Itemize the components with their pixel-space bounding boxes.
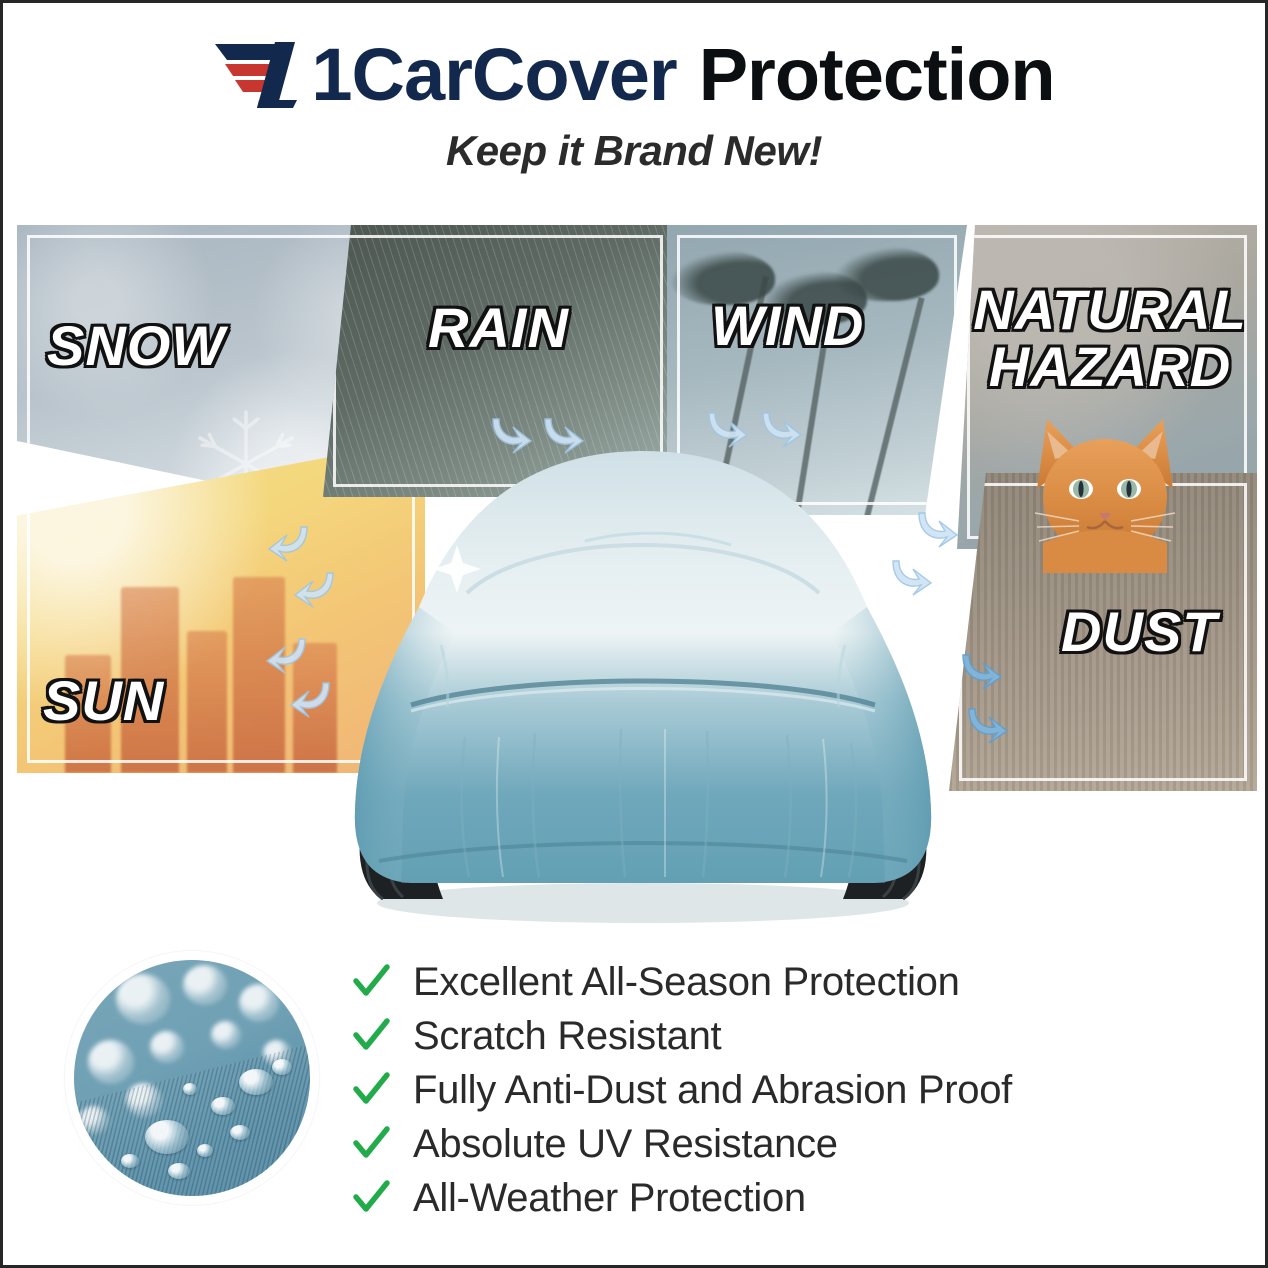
panel-label-natural-hazard: NATURAL HAZARD — [963, 281, 1257, 395]
panel-label-dust: DUST — [1061, 603, 1217, 660]
deflection-arrow-icon — [957, 649, 1003, 695]
list-item: Fully Anti-Dust and Abrasion Proof — [351, 1063, 1181, 1117]
list-item: All-Weather Protection — [351, 1171, 1181, 1225]
panel-label-wind: WIND — [711, 297, 864, 354]
header: 1CarCover Protection Keep it Brand New! — [3, 27, 1265, 175]
deflection-arrow-icon — [487, 413, 533, 459]
tagline: Keep it Brand New! — [3, 127, 1265, 175]
water-beading-fabric-icon — [65, 951, 319, 1205]
deflection-arrow-icon — [963, 703, 1009, 749]
check-icon — [351, 1016, 391, 1056]
deflection-arrow-icon — [289, 677, 335, 723]
palm-tree-icon — [835, 247, 939, 301]
winged-one-logo-icon — [213, 38, 309, 112]
check-icon — [351, 1124, 391, 1164]
deflection-arrow-icon — [293, 567, 339, 613]
list-item: Absolute UV Resistance — [351, 1117, 1181, 1171]
check-icon — [351, 1070, 391, 1110]
feature-label: All-Weather Protection — [413, 1178, 806, 1218]
brand-lockup: 1CarCover Protection — [3, 27, 1265, 123]
covered-car-icon — [335, 437, 951, 929]
panel-label-snow: SNOW — [47, 317, 225, 374]
check-icon — [351, 1178, 391, 1218]
deflection-arrow-icon — [913, 507, 959, 553]
list-item: Excellent All-Season Protection — [351, 955, 1181, 1009]
deflection-arrow-icon — [703, 407, 749, 453]
deflection-arrow-icon — [757, 407, 803, 453]
city-skyline-icon — [187, 631, 227, 773]
deflection-arrow-icon — [267, 521, 313, 567]
feature-list: Excellent All-Season Protection Scratch … — [351, 955, 1181, 1225]
feature-label: Fully Anti-Dust and Abrasion Proof — [413, 1070, 1012, 1110]
feature-label: Excellent All-Season Protection — [413, 962, 960, 1002]
brand-name: 1CarCover — [311, 38, 676, 112]
deflection-arrow-icon — [887, 555, 933, 601]
hazard-collage: SNOW SUN RAIN WIND — [17, 225, 1257, 941]
product-infographic: 1CarCover Protection Keep it Brand New! … — [0, 0, 1268, 1268]
cat-icon — [1017, 393, 1193, 573]
deflection-arrow-icon — [265, 633, 311, 679]
feature-label: Absolute UV Resistance — [413, 1124, 838, 1164]
brand-suffix: Protection — [699, 38, 1055, 112]
check-icon — [351, 962, 391, 1002]
panel-label-sun: SUN — [43, 672, 164, 729]
list-item: Scratch Resistant — [351, 1009, 1181, 1063]
deflection-arrow-icon — [539, 413, 585, 459]
panel-label-rain: RAIN — [428, 299, 569, 356]
fabric-swatch — [74, 960, 310, 1196]
feature-label: Scratch Resistant — [413, 1016, 721, 1056]
